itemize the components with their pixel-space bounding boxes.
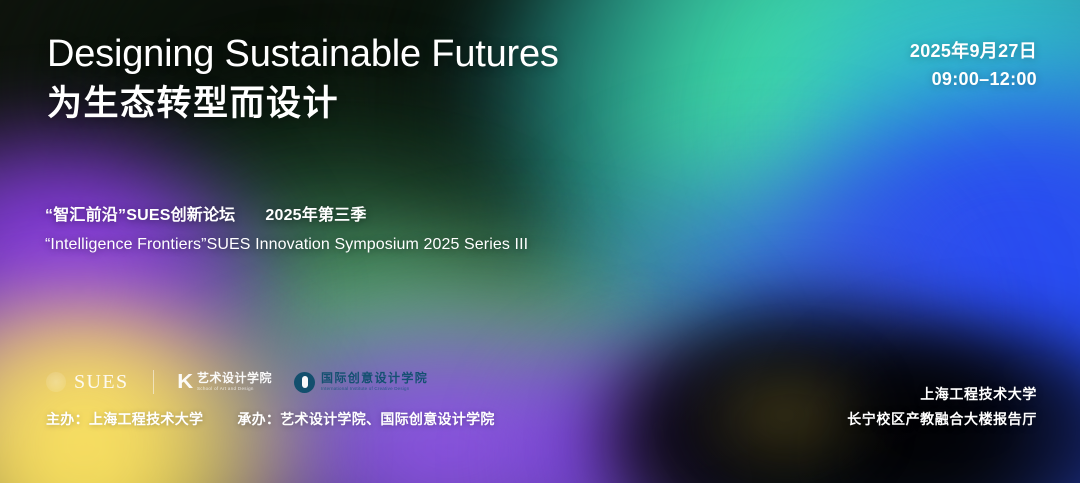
logo-sues: SUES [46,371,129,394]
host-label: 主办： [46,411,89,427]
sues-wordmark: SUES [74,371,129,394]
logo-international-institute-of-creative-design: 国际创意设计学院 International Institute of Crea… [294,372,428,393]
logo-school-of-art-and-design: K 艺术设计学院 School of Art and Design [178,372,272,392]
event-time: 09:00–12:00 [910,66,1037,94]
logo-row: SUES K 艺术设计学院 School of Art and Design 国… [46,370,428,394]
subtitle-english: “Intelligence Frontiers”SUES Innovation … [45,232,528,258]
venue-block: 上海工程技术大学 长宁校区产教融合大楼报告厅 [847,382,1037,431]
event-poster: Designing Sustainable Futures 为生态转型而设计 2… [0,0,1080,483]
art-school-name-english: School of Art and Design [197,387,272,392]
venue-location: 长宁校区产教融合大楼报告厅 [847,407,1037,432]
iicd-text: 国际创意设计学院 International Institute of Crea… [321,372,428,391]
event-date: 2025年9月27日 [910,38,1037,66]
iicd-emblem-icon [294,372,315,393]
subtitle-block: “智汇前沿”SUES创新论坛2025年第三季 “Intelligence Fro… [45,203,528,257]
sues-emblem-icon [46,372,66,392]
event-datetime: 2025年9月27日 09:00–12:00 [910,38,1037,94]
art-school-k-icon: K [177,372,193,392]
poster-content: Designing Sustainable Futures 为生态转型而设计 2… [0,0,1080,483]
title-chinese: 为生态转型而设计 [47,81,559,127]
organizers-line: 主办：上海工程技术大学承办：艺术设计学院、国际创意设计学院 [46,409,495,429]
coorganizer-label: 承办： [237,411,280,427]
logo-divider [153,370,154,394]
art-school-text: 艺术设计学院 School of Art and Design [197,372,272,391]
subtitle-chinese-row: “智汇前沿”SUES创新论坛2025年第三季 [45,203,528,229]
subtitle-chinese-main: “智汇前沿”SUES创新论坛 [45,207,235,224]
iicd-name-english: International Institute of Creative Desi… [321,387,428,392]
iicd-name-chinese: 国际创意设计学院 [321,372,428,385]
coorganizer-name: 艺术设计学院、国际创意设计学院 [280,411,495,427]
host-name: 上海工程技术大学 [89,411,203,427]
title-block: Designing Sustainable Futures 为生态转型而设计 [47,32,559,126]
subtitle-chinese-season: 2025年第三季 [265,207,366,224]
art-school-name-chinese: 艺术设计学院 [197,372,272,385]
title-english: Designing Sustainable Futures [47,32,559,77]
venue-institution: 上海工程技术大学 [847,382,1037,407]
